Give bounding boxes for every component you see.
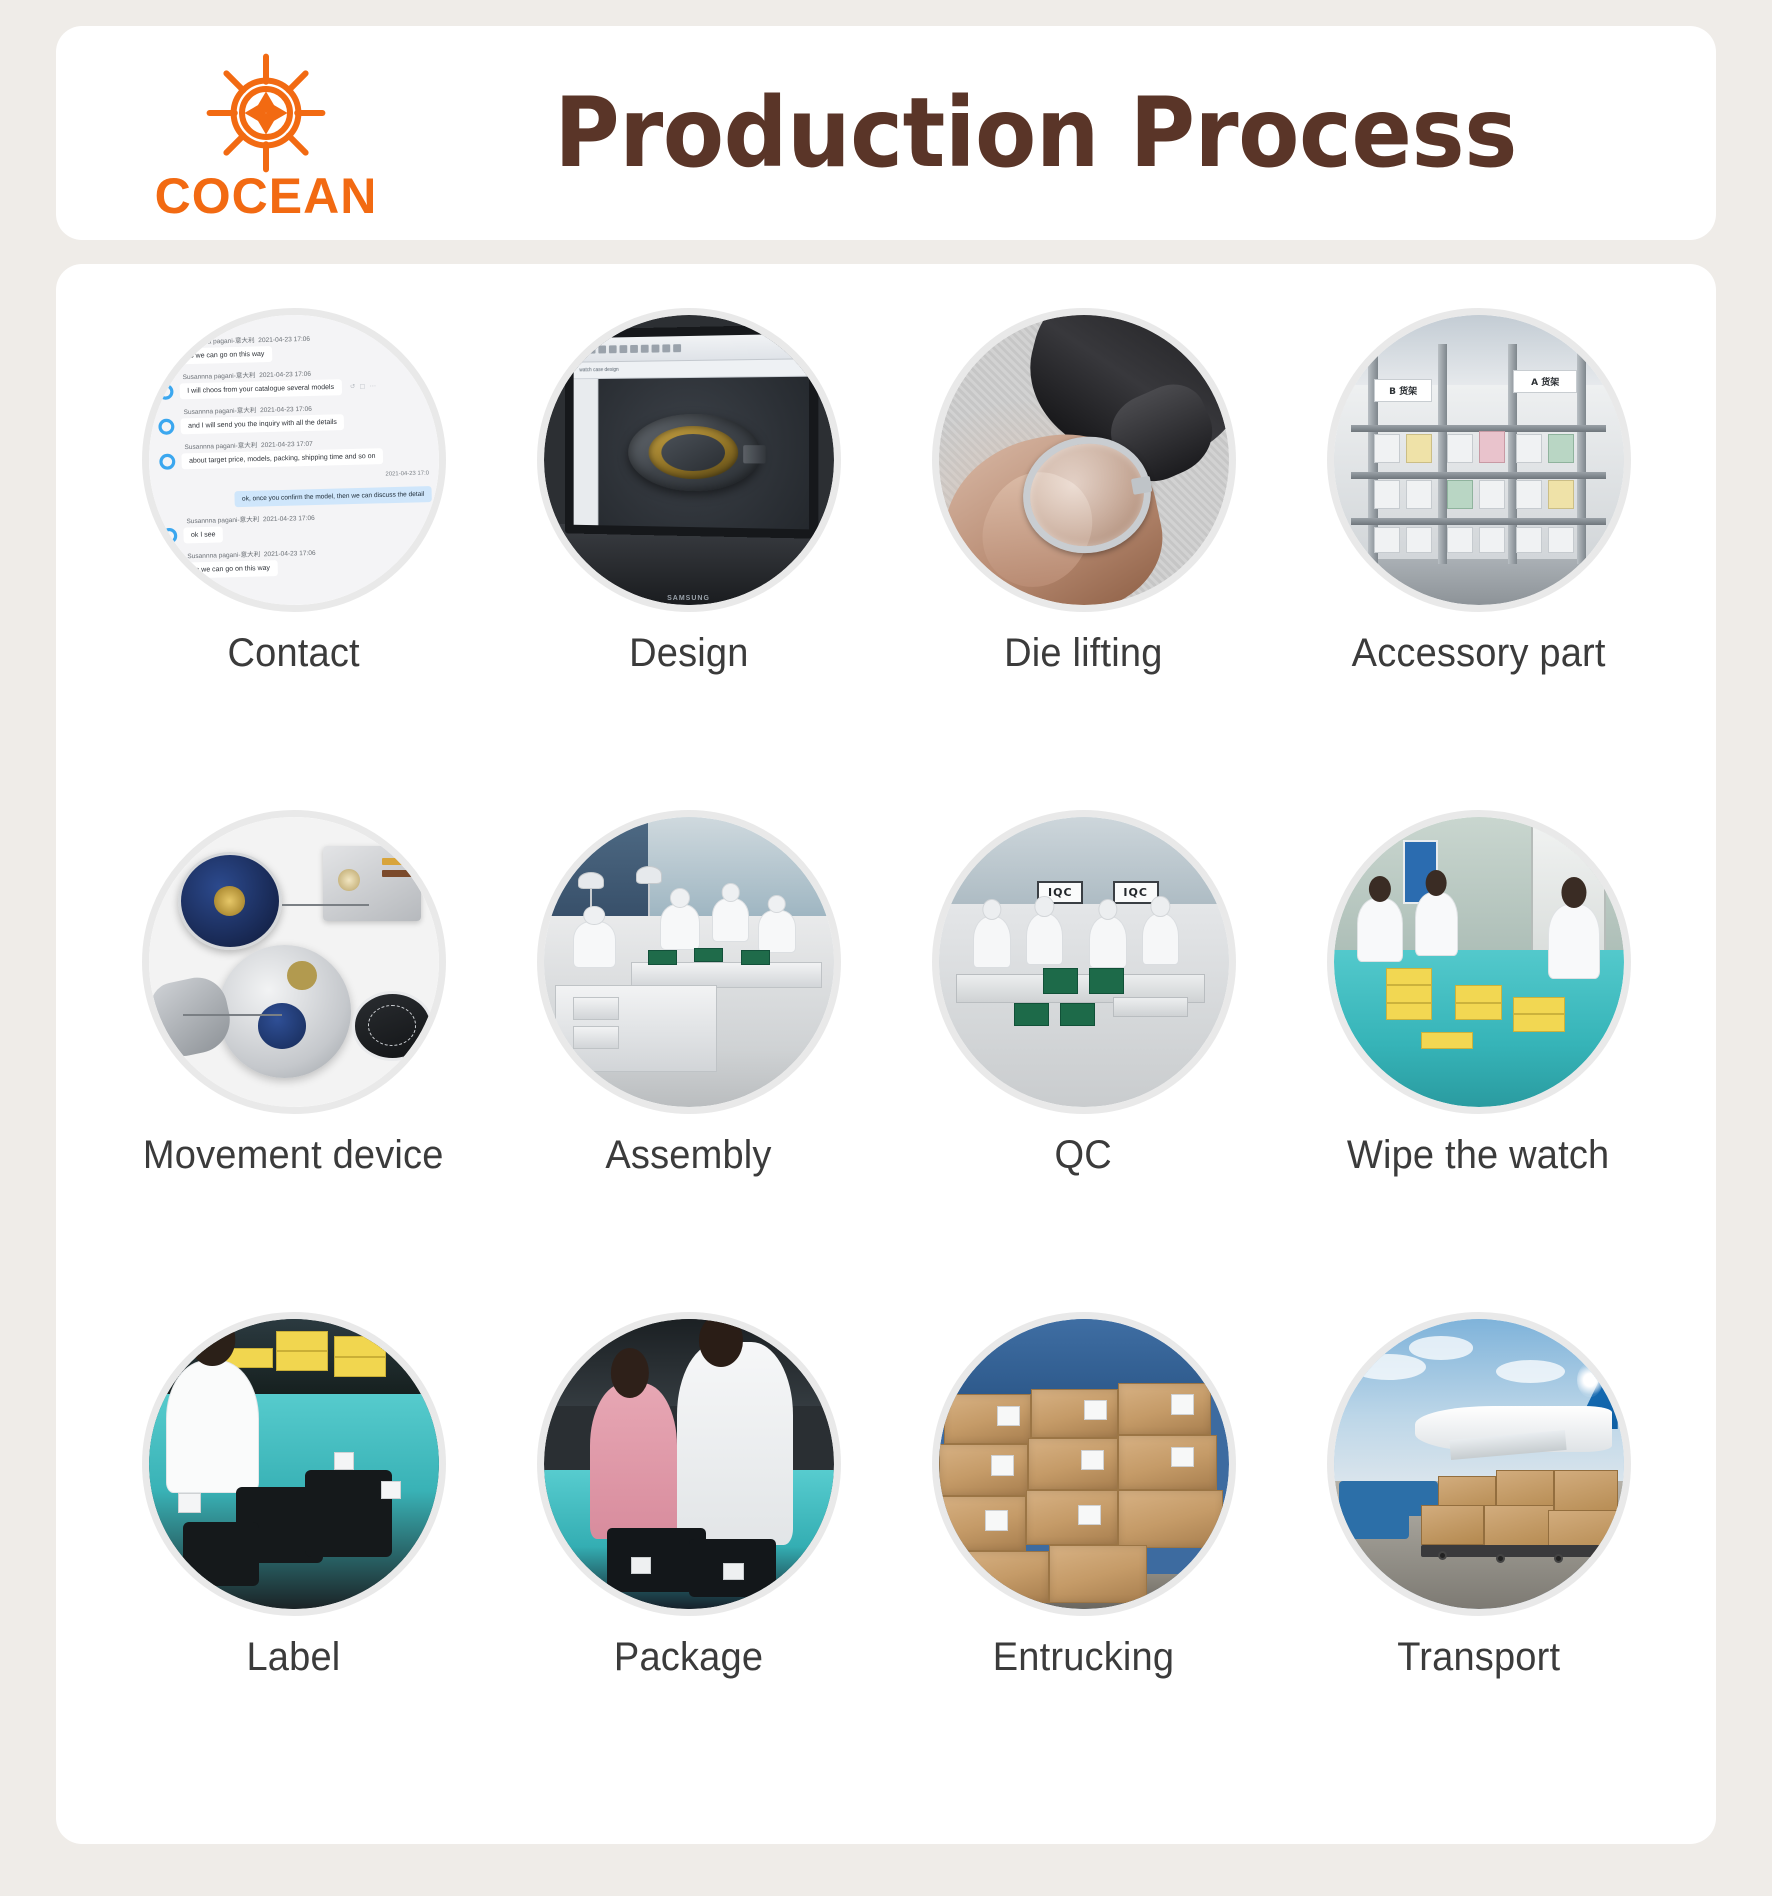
stored-item	[1516, 480, 1542, 509]
shipping-label	[991, 1455, 1014, 1475]
worker	[573, 921, 617, 967]
cart-frame	[1421, 1545, 1618, 1557]
subdial	[258, 1003, 306, 1048]
carton	[1028, 1438, 1118, 1490]
chat-message: Susannna pagani-意大利 2021-04-23 17:07 abo…	[158, 435, 430, 470]
brand-block: COCEAN	[116, 26, 416, 240]
yellow-tray	[1455, 1003, 1501, 1020]
process-steps-panel: Susannna pagani-意大利 2021-04-23 17:06 so …	[56, 264, 1716, 1844]
green-watch-box	[1043, 968, 1078, 994]
cad-canvas	[574, 376, 810, 529]
chat-avatar-icon	[162, 563, 178, 579]
step-label: Contact	[227, 630, 359, 676]
cart-wheel	[1496, 1554, 1505, 1563]
floor	[1334, 559, 1624, 605]
stored-item	[1548, 434, 1574, 463]
worker	[1357, 898, 1403, 962]
quote-icon[interactable]: ▢	[359, 383, 365, 391]
carton	[1026, 1490, 1119, 1545]
chat-bubble: I will choos from your catalogue several…	[179, 379, 341, 399]
stored-item	[1374, 434, 1400, 463]
carton	[1049, 1545, 1148, 1603]
process-step-transport: Transport	[1281, 1312, 1676, 1814]
chat-bubble: about target price, models, packing, shi…	[181, 448, 383, 469]
worker-pink	[590, 1383, 677, 1540]
stored-item	[1479, 527, 1505, 553]
chat-bubble: ok I see	[183, 527, 223, 544]
chat-avatar-icon	[158, 419, 174, 435]
shipping-label	[1081, 1450, 1104, 1470]
blue-tarp	[1334, 1510, 1409, 1539]
shipping-label	[1078, 1505, 1101, 1525]
shipping-label	[997, 1406, 1020, 1426]
process-step-wipe-the-watch: Wipe the watch	[1281, 810, 1676, 1312]
worker-white	[677, 1342, 793, 1545]
carton	[1118, 1435, 1217, 1490]
step-label: Label	[247, 1634, 341, 1680]
shelf-beam	[1351, 518, 1606, 525]
yellow-tray	[1386, 1003, 1432, 1020]
warehouse-storage-racks: B 货架 A 货架	[1334, 315, 1624, 605]
step-photo-qc: IQC IQC	[932, 810, 1236, 1114]
green-tray	[694, 948, 723, 963]
step-label: Assembly	[605, 1132, 771, 1178]
cloud	[1409, 1336, 1473, 1359]
yellow-tray	[1386, 985, 1432, 1002]
stored-item	[1516, 527, 1542, 553]
lamp-head	[636, 866, 662, 883]
chat-message-outgoing: 2021-04-23 17:0 ok, once you confirm the…	[159, 470, 431, 509]
stored-item	[1447, 434, 1473, 463]
chat-avatar-icon	[156, 349, 172, 365]
chat-bubble: ok, once you confirm the model, then we …	[234, 486, 431, 507]
stem-needle	[183, 1014, 282, 1016]
production-process-page: COCEAN Production Process Susannna pagan…	[0, 0, 1772, 1896]
step-photo-contact: Susannna pagani-意大利 2021-04-23 17:06 so …	[142, 308, 446, 612]
worker	[1415, 892, 1459, 956]
step-photo-assembly	[537, 810, 841, 1114]
stored-item	[1548, 480, 1574, 509]
cargo-cart	[1421, 1505, 1485, 1546]
chat-message: Susannna pagani-意大利 2021-04-23 17:06 ok …	[160, 509, 432, 544]
step-photo-entrucking	[932, 1312, 1236, 1616]
cargo-plane-loading-on-tarmac	[1334, 1319, 1624, 1609]
tray	[1113, 997, 1188, 1017]
process-step-contact: Susannna pagani-意大利 2021-04-23 17:06 so …	[96, 308, 491, 810]
wall-panel	[544, 817, 648, 916]
green-watch-box	[1014, 1003, 1049, 1026]
process-step-qc: IQC IQC	[886, 810, 1281, 1312]
yellow-tray	[276, 1351, 328, 1371]
yellow-tray	[334, 1357, 386, 1377]
brand-name: COCEAN	[155, 171, 378, 221]
yellow-tray	[1455, 985, 1501, 1002]
carton	[1118, 1490, 1222, 1548]
quality-control-inspection-line: IQC IQC	[939, 817, 1229, 1107]
shipping-label	[1084, 1400, 1107, 1420]
worker	[1548, 904, 1600, 979]
assembly-workbench-line	[544, 817, 834, 1107]
cad-window-title: watch case design	[574, 359, 810, 379]
watch-movements-and-dials	[149, 817, 439, 1107]
chat-bubble: so we can go on this way	[184, 560, 277, 578]
monitor: watch case design	[565, 324, 818, 538]
worker	[712, 898, 750, 942]
inspector	[1142, 913, 1180, 965]
shipping-label	[1171, 1447, 1194, 1467]
date-ring	[352, 991, 433, 1061]
chat-bubble: so we can go on this way	[178, 346, 271, 364]
product-label	[381, 1481, 401, 1498]
rack-sign: A 货架	[1513, 370, 1577, 393]
chat-message: Susannna pagani-意大利 2021-04-23 17:06 I w…	[157, 365, 429, 400]
step-label: Movement device	[143, 1132, 444, 1178]
chat-avatar-icon	[159, 454, 175, 470]
green-watch-box	[1060, 1003, 1095, 1026]
shelf-beam	[1351, 472, 1606, 479]
yellow-tray	[1513, 997, 1565, 1014]
cad-tree-panel	[574, 379, 599, 525]
watch-movement	[218, 945, 351, 1078]
stored-item	[1447, 527, 1473, 553]
rack-post	[1577, 344, 1586, 564]
shipping-label	[985, 1510, 1008, 1530]
yellow-tray	[1386, 968, 1432, 985]
process-step-label: Label	[96, 1312, 491, 1814]
carton	[1118, 1383, 1211, 1435]
two-workers-packaging	[544, 1319, 834, 1609]
stored-item	[1479, 480, 1505, 509]
black-pouches	[183, 1522, 258, 1586]
watch-case-model	[628, 413, 760, 492]
chat-message: Susannna pagani-意大利 2021-04-23 17:06 and…	[157, 400, 429, 435]
drawer	[573, 1026, 619, 1049]
moonphase-dial	[178, 852, 282, 951]
process-step-assembly: Assembly	[491, 810, 886, 1312]
carton	[939, 1496, 1026, 1551]
product-label	[631, 1557, 651, 1574]
product-label	[723, 1563, 743, 1580]
watch-crown-model	[743, 445, 765, 463]
process-step-entrucking: Entrucking	[886, 1312, 1281, 1814]
carton	[939, 1444, 1029, 1496]
chat-avatar-icon	[161, 528, 177, 544]
step-photo-movement-device	[142, 810, 446, 1114]
ship-wheel-icon	[206, 53, 326, 173]
gear	[287, 961, 316, 990]
wall	[939, 817, 1229, 904]
stored-item	[1516, 434, 1542, 463]
header-panel: COCEAN Production Process	[56, 26, 1716, 240]
reply-icon[interactable]: ↺	[349, 383, 355, 391]
stored-item	[1548, 527, 1574, 553]
carton	[950, 1551, 1049, 1603]
stored-item	[1479, 431, 1505, 463]
movement-module	[323, 846, 422, 921]
cart-wheel	[1438, 1551, 1447, 1560]
chat-bubble: and I will send you the inquiry with all…	[180, 414, 344, 434]
lamp-head	[578, 872, 604, 889]
header-title-wrap: Production Process	[416, 77, 1716, 189]
step-photo-label	[142, 1312, 446, 1616]
stacked-cartons-for-loading	[939, 1319, 1229, 1609]
yellow-tray	[334, 1336, 386, 1356]
step-label: Transport	[1397, 1634, 1560, 1680]
step-label: Entrucking	[993, 1634, 1174, 1680]
process-step-accessory-part: B 货架 A 货架	[1281, 308, 1676, 810]
step-label: Die lifting	[1004, 630, 1162, 676]
black-pouches	[305, 1470, 392, 1557]
step-photo-design: watch case design SAMSUNG	[537, 308, 841, 612]
green-tray	[648, 950, 677, 965]
chat-message: Susannna pagani-意大利 2021-04-23 17:06 so …	[161, 544, 433, 579]
chat-avatar-icon	[157, 384, 173, 400]
stem-needle	[282, 904, 369, 906]
product-label	[178, 1493, 201, 1513]
step-photo-wipe-the-watch	[1327, 810, 1631, 1114]
product-label	[334, 1452, 354, 1469]
chat-message: Susannna pagani-意大利 2021-04-23 17:06 so …	[156, 330, 428, 365]
process-step-design: watch case design SAMSUNG Design	[491, 308, 886, 810]
cad-toolbar	[574, 333, 810, 362]
cart-wheel	[1554, 1554, 1563, 1563]
cad-watch-case-on-monitor: watch case design SAMSUNG	[544, 315, 834, 605]
monitor-brand: SAMSUNG	[667, 595, 710, 602]
workers-wiping-watches-at-table	[1334, 817, 1624, 1107]
stored-item	[1374, 527, 1400, 553]
inspector	[973, 916, 1011, 968]
process-step-die-lifting: Die lifting	[886, 308, 1281, 810]
step-photo-package	[537, 1312, 841, 1616]
process-step-movement-device: Movement device	[96, 810, 491, 1312]
green-watch-box	[1089, 968, 1124, 994]
stored-item	[1406, 434, 1432, 463]
step-label: Accessory part	[1352, 630, 1606, 676]
more-icon[interactable]: ⋯	[369, 383, 376, 391]
worker	[166, 1360, 259, 1493]
chat-conversation-screenshot: Susannna pagani-意大利 2021-04-23 17:06 so …	[149, 315, 439, 605]
yellow-tray	[276, 1331, 328, 1351]
shipping-label	[1171, 1394, 1194, 1414]
chat-message-meta: 2021-04-23 17:0	[159, 470, 428, 483]
worker	[758, 910, 796, 954]
worker-labeling-products	[149, 1319, 439, 1609]
green-tray	[741, 950, 770, 965]
step-photo-die-lifting	[932, 308, 1236, 612]
step-photo-accessory-part: B 货架 A 货架	[1327, 308, 1631, 612]
gloved-hand-holding-watch-case-ring	[939, 315, 1229, 605]
yellow-tray	[1421, 1032, 1473, 1049]
process-step-package: Package	[491, 1312, 886, 1814]
workbench	[631, 962, 822, 988]
inspector	[1089, 916, 1127, 968]
cloud	[1351, 1354, 1426, 1380]
stored-item	[1374, 480, 1400, 509]
chat-action-icons[interactable]: ↺ ▢ ⋯	[349, 383, 375, 391]
step-label: Package	[614, 1634, 763, 1680]
cargo-cart	[1484, 1505, 1554, 1551]
worker	[660, 904, 701, 950]
step-label: Wipe the watch	[1347, 1132, 1609, 1178]
drawer	[573, 997, 619, 1020]
page-title: Production Process	[555, 77, 1518, 189]
step-photo-transport	[1327, 1312, 1631, 1616]
yellow-tray	[1513, 1014, 1565, 1031]
cloud	[1496, 1360, 1566, 1383]
stored-item	[1447, 480, 1473, 509]
stored-item	[1406, 527, 1432, 553]
process-grid: Susannna pagani-意大利 2021-04-23 17:06 so …	[96, 308, 1676, 1814]
step-label: QC	[1055, 1132, 1112, 1178]
rack-sign: B 货架	[1374, 379, 1432, 402]
inspector	[1026, 913, 1064, 965]
step-label: Design	[629, 630, 748, 676]
stored-item	[1406, 480, 1432, 509]
